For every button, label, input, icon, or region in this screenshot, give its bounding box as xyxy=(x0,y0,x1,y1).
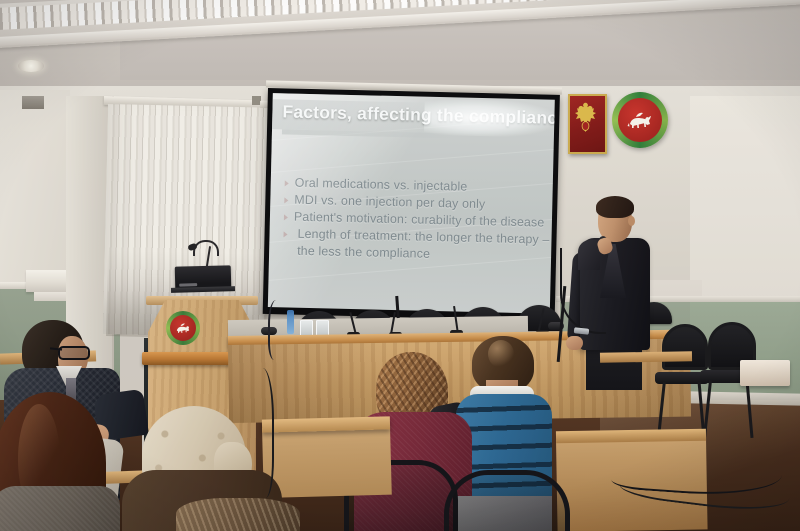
attendee-woman-long-hair-body xyxy=(0,486,120,531)
hair-highlight xyxy=(488,340,514,368)
tatarstan-emblem xyxy=(612,92,668,148)
podium-cable xyxy=(246,368,274,498)
laptop-screen[interactable] xyxy=(175,265,232,288)
gooseneck-microphone-arc xyxy=(193,240,219,256)
desk-front-body xyxy=(262,425,392,498)
presenter-ear xyxy=(628,216,635,226)
desk-ledge xyxy=(600,351,692,363)
podium-tatarstan-emblem xyxy=(166,311,200,345)
tatarstan-emblem-disc xyxy=(618,98,662,142)
projected-slide: Factors, affecting the compliance Oral m… xyxy=(268,93,555,314)
russian-coat-of-arms xyxy=(568,94,607,154)
bullet-text: Oral medications vs. injectable xyxy=(295,176,468,194)
eyeglasses-icon xyxy=(58,346,90,360)
triangle-bullet-icon xyxy=(283,231,287,237)
slide-bullet-continuation: the less the compliance xyxy=(283,243,551,263)
ceiling-light-icon xyxy=(18,60,44,72)
empty-chair-back[interactable] xyxy=(662,324,708,370)
bullet-text: MDI vs. one injection per day only xyxy=(294,193,485,211)
projection-screen: Factors, affecting the compliance Oral m… xyxy=(263,88,560,321)
laptop-logo xyxy=(179,283,197,286)
presenter-left-hand xyxy=(566,336,583,350)
rail-bracket xyxy=(22,96,44,109)
triangle-bullet-icon xyxy=(284,214,288,220)
fur-garment xyxy=(176,498,300,531)
winged-snow-leopard-icon xyxy=(627,109,653,131)
triangle-bullet-icon xyxy=(285,180,289,186)
wall-cable xyxy=(268,300,288,360)
stacked-boxes xyxy=(740,360,790,386)
winged-snow-leopard-icon xyxy=(175,321,191,335)
bullet-text: the less the compliance xyxy=(297,244,430,261)
slide-bullet-list: Oral medications vs. injectable MDI vs. … xyxy=(283,175,553,266)
presenter-hair xyxy=(596,196,634,218)
triangle-bullet-icon xyxy=(284,197,288,203)
podium-emblem-disc xyxy=(170,315,196,341)
double-headed-eagle-icon xyxy=(574,102,597,142)
lecture-hall-photo: Factors, affecting the compliance Oral m… xyxy=(0,0,800,531)
audience-chair[interactable] xyxy=(444,470,570,531)
water-bottle[interactable] xyxy=(287,310,294,334)
